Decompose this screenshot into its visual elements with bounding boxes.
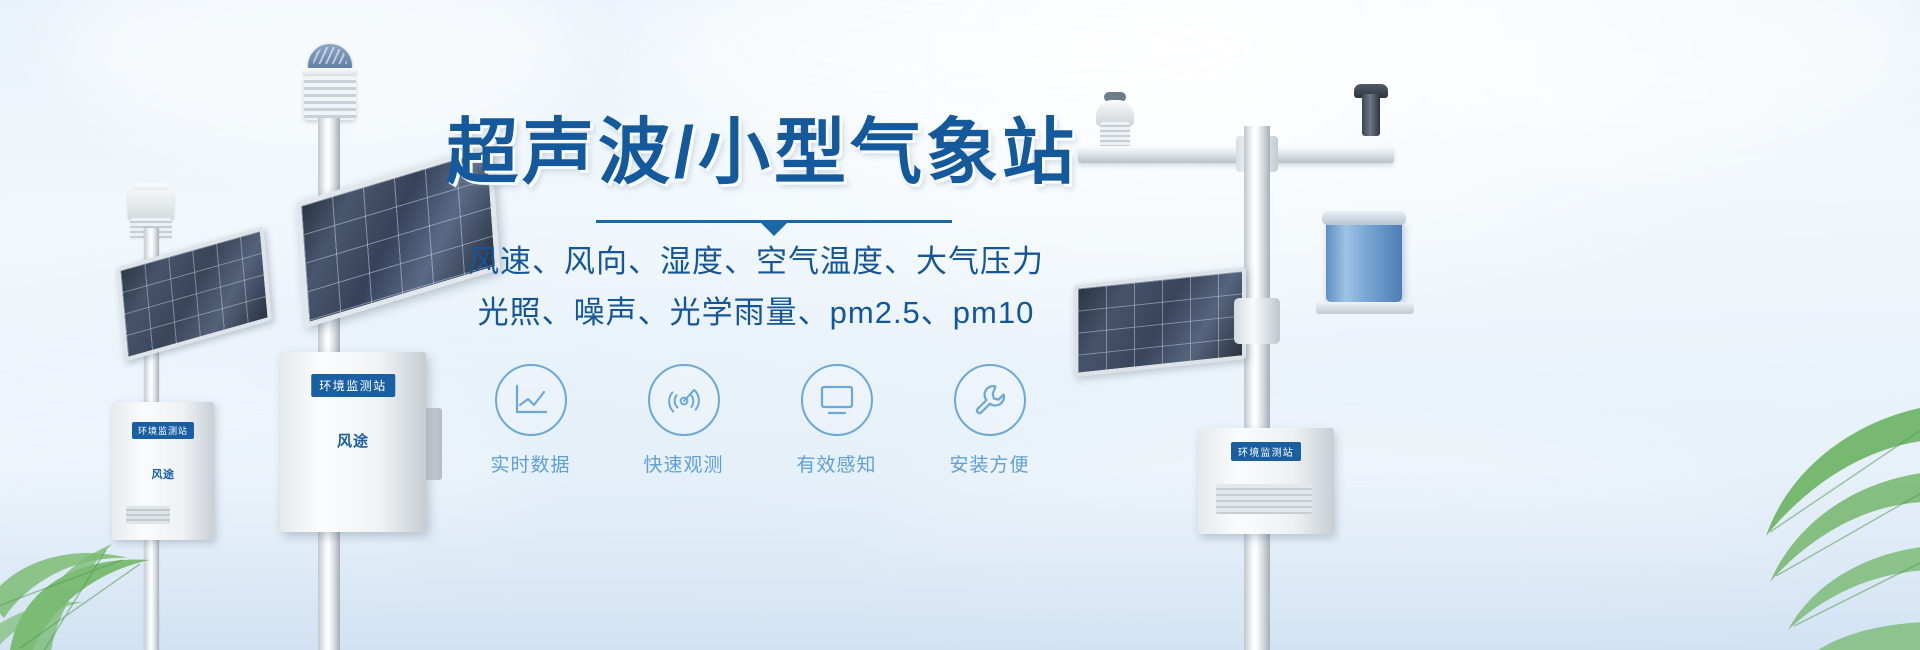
brand-logo: 风途 (337, 430, 369, 451)
feature-item-effective-sensing[interactable]: 有效感知 (760, 364, 913, 477)
feature-list: 实时数据 快速观测 (454, 364, 1066, 477)
cabinet-vent (1216, 484, 1312, 514)
solar-panel (116, 226, 272, 362)
chart-line-icon (495, 364, 567, 436)
monitor-icon (801, 364, 873, 436)
feature-item-easy-installation[interactable]: 安装方便 (913, 364, 1066, 477)
subtitle-line-2: 光照、噪声、光学雨量、pm2.5、pm10 (446, 292, 1066, 334)
radiation-shield (128, 190, 174, 220)
product-banner: 环境监测站 风途 环境监测站 风途 环境监测站 (0, 0, 1920, 650)
control-cabinet: 环境监测站 (1198, 428, 1334, 534)
sensor-stack (1100, 122, 1130, 148)
radiation-shield (304, 76, 356, 120)
feature-label: 有效感知 (760, 450, 913, 477)
feature-label: 安装方便 (913, 450, 1066, 477)
control-cabinet: 环境监测站 风途 (280, 352, 426, 532)
mast-collar (1234, 298, 1280, 344)
title-divider (596, 220, 952, 223)
cabinet-label: 环境监测站 (132, 422, 194, 439)
feature-label: 快速观测 (607, 450, 760, 477)
camera (1362, 94, 1380, 136)
banner-text-block: 超声波/小型气象站 风速、风向、湿度、空气温度、大气压力 光照、噪声、光学雨量、… (446, 112, 1066, 477)
cabinet-label: 环境监测站 (1231, 442, 1301, 461)
palm-leaf-right-decoration (1600, 376, 1920, 650)
palm-leaf-left-decoration (0, 440, 220, 650)
mounting-pole (1244, 126, 1270, 650)
subtitle-line-1: 风速、风向、湿度、空气温度、大气压力 (446, 241, 1066, 283)
chevron-down-icon (761, 223, 787, 236)
cabinet-label: 环境监测站 (311, 374, 395, 397)
radar-target-icon (648, 364, 720, 436)
page-title: 超声波/小型气象站 (446, 112, 1066, 196)
wrench-icon (954, 364, 1026, 436)
feature-label: 实时数据 (454, 450, 607, 477)
rain-gauge-base (1316, 302, 1414, 314)
sky-dome-sensor (308, 44, 352, 70)
solar-panel (1074, 267, 1246, 377)
feature-item-fast-observation[interactable]: 快速观测 (607, 364, 760, 477)
feature-item-realtime-data[interactable]: 实时数据 (454, 364, 607, 477)
weather-station-mast: 环境监测站 (1060, 40, 1480, 650)
rain-gauge (1326, 218, 1402, 302)
